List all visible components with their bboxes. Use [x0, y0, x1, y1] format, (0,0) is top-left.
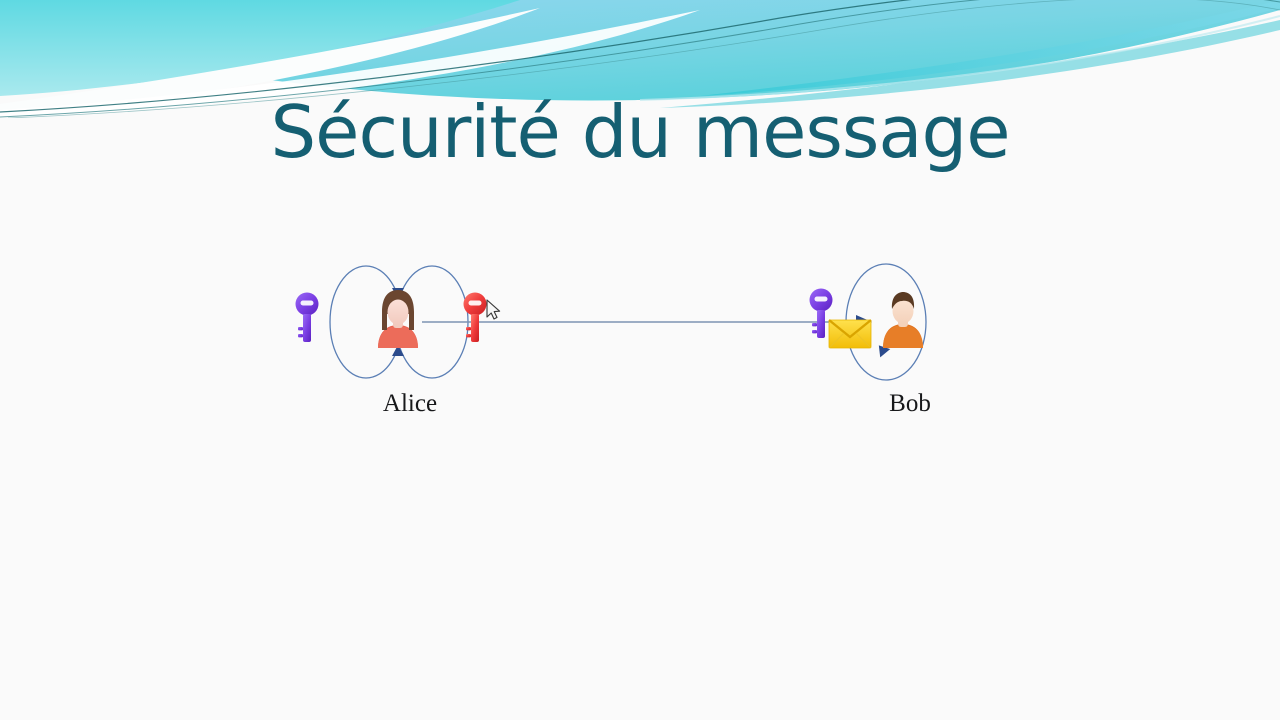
alice-loop-left [330, 266, 402, 378]
presentation-slide: Sécurité du message [0, 0, 1280, 720]
avatar-bob [883, 292, 923, 348]
mouse-pointer-icon [487, 300, 500, 319]
avatar-alice [378, 290, 418, 348]
message-security-diagram [0, 0, 1280, 720]
key-icon-alice-public[interactable] [296, 293, 319, 343]
actor-label-bob: Bob [835, 390, 985, 418]
key-icon-alice-private[interactable] [464, 293, 487, 343]
envelope-icon[interactable] [829, 320, 871, 348]
actor-label-alice: Alice [330, 390, 490, 418]
